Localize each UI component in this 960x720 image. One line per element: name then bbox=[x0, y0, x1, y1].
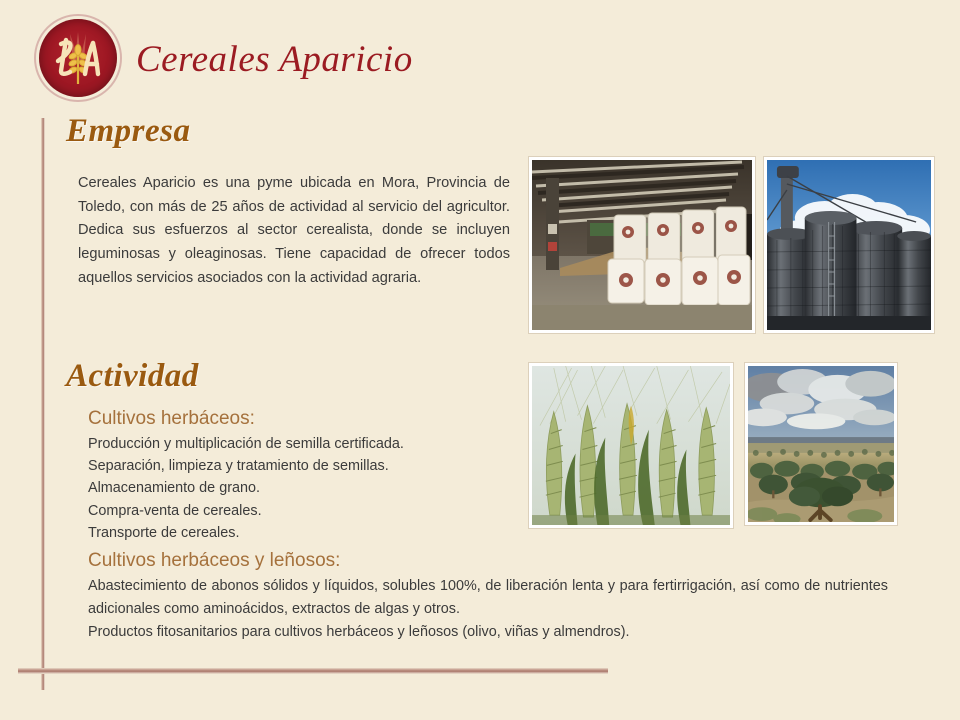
list-item: Compra-venta de cereales. bbox=[88, 500, 518, 522]
list-item: Separación, limpieza y tratamiento de se… bbox=[88, 455, 518, 477]
olive-grove-photo bbox=[745, 363, 897, 525]
vertical-accent-rule bbox=[41, 118, 45, 690]
list-item: Producción y multiplicación de semilla c… bbox=[88, 433, 518, 455]
subheading-cultivos-herbaceos: Cultivos herbáceos: bbox=[88, 405, 518, 433]
horizontal-accent-rule bbox=[18, 668, 608, 674]
empresa-paragraph: Cereales Aparicio es una pyme ubicada en… bbox=[78, 172, 510, 290]
fitosanitarios-paragraph: Productos fitosanitarios para cultivos h… bbox=[88, 621, 888, 644]
section-title-actividad: Actividad bbox=[66, 358, 199, 395]
cultivos-herbaceos-block: Cultivos herbáceos: Producción y multipl… bbox=[88, 405, 518, 544]
section-title-empresa: Empresa bbox=[66, 113, 191, 150]
subheading-cultivos-herbaceos-lenosos: Cultivos herbáceos y leñosos: bbox=[88, 547, 888, 575]
warehouse-big-bags-photo bbox=[529, 157, 755, 333]
grain-silos-photo bbox=[764, 157, 934, 333]
green-wheat-ears-photo bbox=[529, 363, 733, 528]
list-item: Almacenamiento de grano. bbox=[88, 477, 518, 499]
abonos-paragraph: Abastecimiento de abonos sólidos y líqui… bbox=[88, 575, 888, 621]
cultivos-herbaceos-lenosos-block: Cultivos herbáceos y leñosos: Abastecimi… bbox=[88, 547, 888, 644]
brand-wordmark: Cereales Aparicio bbox=[136, 41, 413, 78]
slide-page: Cereales Aparicio Empresa Cereales Apari… bbox=[0, 0, 960, 720]
brand-logo: Cereales Aparicio bbox=[34, 14, 413, 102]
list-item: Transporte de cereales. bbox=[88, 522, 518, 544]
wheat-circle-logo-icon bbox=[34, 14, 122, 102]
cultivos-herbaceos-list: Producción y multiplicación de semilla c… bbox=[88, 433, 518, 545]
